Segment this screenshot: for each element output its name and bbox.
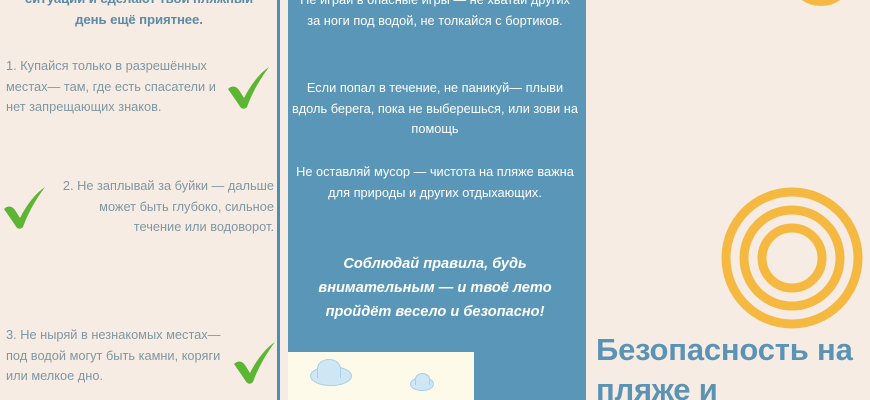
middle-blue-panel: Не играй в опасные игры — не хватай друг… xyxy=(288,0,582,400)
brochure-page: ситуации и сделают твой пляжный день ещё… xyxy=(0,0,870,400)
cloud-small-icon xyxy=(410,377,434,391)
left-column-divider xyxy=(277,0,280,400)
middle-paragraph-3: Не оставляй мусор — чистота на пляже важ… xyxy=(292,162,578,203)
middle-paragraph-2: Если попал в течение, не паникуй— плыви … xyxy=(292,78,578,140)
rule-item-1: 1. Купайся только в разрешённых местах— … xyxy=(6,56,221,118)
right-column-divider xyxy=(582,0,586,400)
cloud-large-icon xyxy=(310,366,352,386)
intro-paragraph-tail: ситуации и сделают твой пляжный день ещё… xyxy=(8,0,270,30)
call-to-action-text: Соблюдай правила, будь внимательным — и … xyxy=(294,252,576,324)
beach-scene-illustration xyxy=(288,352,474,400)
right-title-column: Безопасность на пляже и xyxy=(582,0,870,400)
sun-partial-icon xyxy=(794,0,848,6)
green-check-icon xyxy=(0,182,50,234)
green-check-icon xyxy=(228,337,276,389)
concentric-sun-rings-icon xyxy=(720,186,864,330)
rule-item-2: 2. Не заплывай за буйки — дальше может б… xyxy=(50,176,274,238)
left-rules-column: ситуации и сделают твой пляжный день ещё… xyxy=(0,0,276,400)
page-title: Безопасность на пляже и xyxy=(596,330,868,400)
rule-item-3: 3. Не ныряй в незнакомых местах— под вод… xyxy=(6,325,231,387)
middle-paragraph-1: Не играй в опасные игры — не хватай друг… xyxy=(292,0,578,31)
green-check-icon xyxy=(222,62,274,114)
